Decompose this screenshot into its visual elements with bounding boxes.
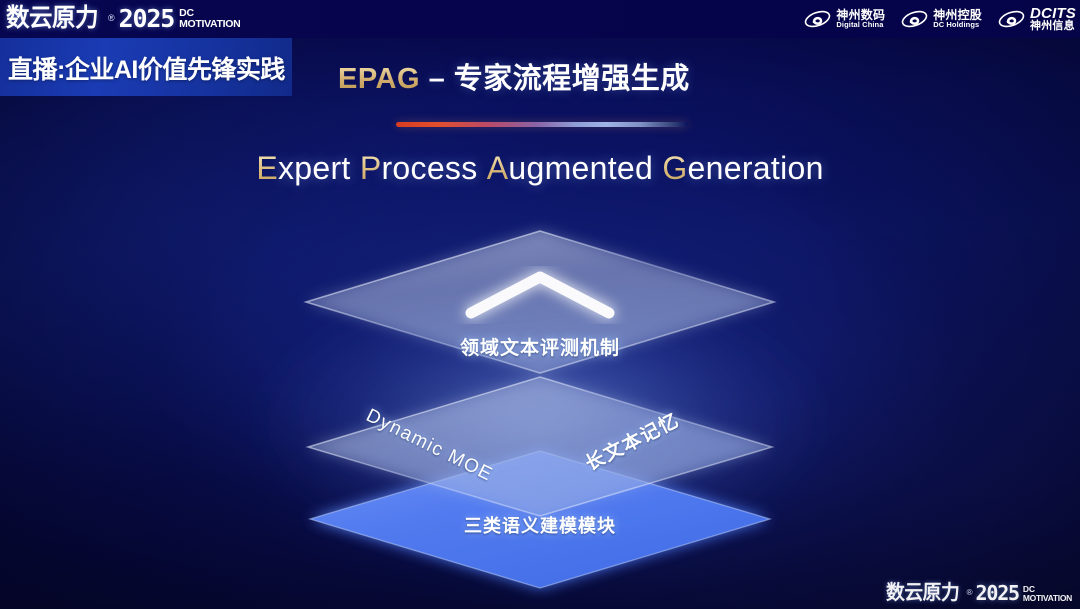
title-divider <box>396 122 688 127</box>
live-banner-text: 直播:企业AI价值先锋实践 <box>8 50 285 86</box>
diagram-layer-middle-label-left: Dynamic MOE <box>362 405 496 487</box>
brand-logo-dc-line1: DC <box>179 8 240 18</box>
partner-name-cn: 神州信息 <box>1030 21 1076 32</box>
subtitle-cap-p: P <box>360 150 382 186</box>
subtitle-cap-e: E <box>256 150 278 186</box>
diagram-layer-middle <box>308 377 772 516</box>
swirl-icon <box>998 8 1025 30</box>
partner-name-en: Digital China <box>836 21 885 29</box>
page-title-rest: – 专家流程增强生成 <box>420 63 690 95</box>
partner-text: 神州数码 Digital China <box>836 9 885 29</box>
brand-logo-cn: 数云原力 <box>6 6 98 31</box>
partner-logo-digital-china: 神州数码 Digital China <box>804 8 885 30</box>
diagram-layer-top-label: 领域文本评测机制 <box>0 333 1080 360</box>
partner-name-en: DCITS <box>1030 6 1076 21</box>
footer-watermark: 数云原力 ® 2025 DC MOTIVATION <box>886 583 1072 603</box>
page-title: EPAG – 专家流程增强生成 <box>338 55 690 97</box>
watermark-year: 2025 <box>976 583 1019 603</box>
brand-logo-registered: ® <box>108 14 115 23</box>
page-title-acronym: EPAG <box>338 63 420 95</box>
brand-logo-dc-line2: MOTIVATION <box>179 19 240 29</box>
partner-text: DCITS 神州信息 <box>1030 6 1076 33</box>
subtitle-word-augmented: ugmented <box>508 150 653 186</box>
swirl-icon <box>804 8 831 30</box>
watermark-registered: ® <box>967 589 973 597</box>
partner-logo-dc-holdings: 神州控股 DC Holdings <box>901 8 982 30</box>
subtitle-word-expert: xpert <box>278 150 351 186</box>
brand-logo-dc: DC MOTIVATION <box>179 8 240 28</box>
subtitle-word-generation: eneration <box>688 150 824 186</box>
diagram-layer-middle-label-right: 长文本记忆 <box>580 405 684 476</box>
partner-text: 神州控股 DC Holdings <box>933 9 982 29</box>
swirl-icon <box>901 8 928 30</box>
chevron-up-icon <box>471 277 609 313</box>
watermark-dc: DC MOTIVATION <box>1023 585 1072 601</box>
partner-logos: 神州数码 Digital China 神州控股 DC Holdings DCIT… <box>804 3 1076 35</box>
partner-name-en: DC Holdings <box>933 21 982 29</box>
subtitle-cap-a: A <box>487 150 509 186</box>
subtitle-cap-g: G <box>662 150 687 186</box>
diagram-layer-bottom-label: 三类语义建模模块 <box>0 512 1080 538</box>
brand-logo: 数云原力 ® 2025 DC MOTIVATION <box>6 1 240 35</box>
partner-logo-dcits: DCITS 神州信息 <box>998 6 1076 33</box>
page-subtitle: Expert Process Augmented Generation <box>0 150 1080 187</box>
slide-canvas: 领域文本评测机制 Dynamic MOE 长文本记忆 三类语义建模模块 数云原力… <box>0 0 1080 609</box>
watermark-cn: 数云原力 <box>886 583 959 603</box>
brand-logo-year: 2025 <box>119 6 174 31</box>
subtitle-word-process: rocess <box>381 150 477 186</box>
watermark-dc-line2: MOTIVATION <box>1023 594 1072 602</box>
